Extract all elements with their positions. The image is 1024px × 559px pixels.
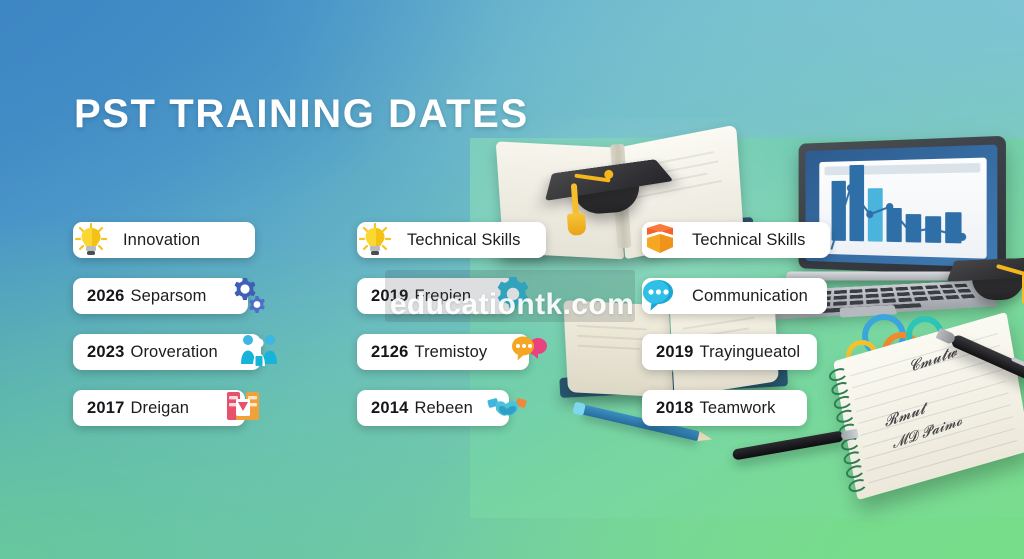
certificate-icon [223, 386, 263, 426]
card-year: 2019 [371, 287, 409, 306]
small-graduation-cap-icon [952, 246, 1024, 310]
gear-icon [493, 274, 533, 314]
card-2019-frepien[interactable]: 2019 Frepien [357, 278, 515, 314]
speech-bubbles-icon [507, 330, 547, 370]
bar-chart-icon [819, 158, 986, 259]
card-label: Innovation [123, 231, 200, 250]
column-2: Technical Skills 2019 Frepien 2126 Tremi… [357, 222, 542, 446]
handshake-icon [487, 386, 527, 426]
speech-bubble-icon [640, 275, 680, 315]
chevron-book-icon [640, 219, 680, 259]
card-label: Trayingueatol [700, 343, 801, 362]
lightbulb-icon [355, 219, 395, 259]
card-label: Technical Skills [407, 231, 520, 250]
card-technical-skills-3[interactable]: Technical Skills [642, 222, 830, 258]
lightbulb-icon [71, 219, 111, 259]
graduation-cap-icon [549, 147, 669, 223]
card-year: 2023 [87, 343, 125, 362]
card-year: 2126 [371, 343, 409, 362]
card-label: Technical Skills [692, 231, 805, 250]
poster-canvas: 𝓒𝓶𝓾𝓽𝔀 𝓡𝓶𝓾𝓽 𝓜𝓓 𝓟𝓪𝓲𝓶𝓸 PST TRAINING DATE [0, 0, 1024, 559]
column-3: Technical Skills Communication 2019 Tray… [642, 222, 832, 446]
card-2026-separsom[interactable]: 2026 Separsom [73, 278, 248, 314]
card-label: Rebeen [415, 399, 473, 418]
card-innovation[interactable]: Innovation [73, 222, 255, 258]
card-2126-tremistoy[interactable]: 2126 Tremistoy [357, 334, 529, 370]
column-1: Innovation 2026 Separsom 2023 Oroveratio… [73, 222, 258, 446]
card-year: 2018 [656, 399, 694, 418]
card-label: Oroveration [131, 343, 218, 362]
card-communication[interactable]: Communication [642, 278, 827, 314]
card-label: Communication [692, 287, 808, 306]
card-label: Separsom [131, 287, 207, 306]
card-year: 2017 [87, 399, 125, 418]
card-label: Tremistoy [415, 343, 488, 362]
card-year: 2026 [87, 287, 125, 306]
card-label: Dreigan [131, 399, 189, 418]
card-2023-oroveration[interactable]: 2023 Oroveration [73, 334, 261, 370]
card-technical-skills-2[interactable]: Technical Skills [357, 222, 546, 258]
card-2017-dreigan[interactable]: 2017 Dreigan [73, 390, 245, 426]
card-2018-teamwork[interactable]: 2018 Teamwork [642, 390, 807, 426]
card-year: 2019 [656, 343, 694, 362]
card-2019-trayingueatol[interactable]: 2019 Trayingueatol [642, 334, 817, 370]
card-label: Teamwork [700, 399, 776, 418]
card-2014-rebeen[interactable]: 2014 Rebeen [357, 390, 509, 426]
card-label: Frepien [415, 287, 472, 306]
page-title: PST TRAINING DATES [74, 92, 529, 137]
card-year: 2014 [371, 399, 409, 418]
